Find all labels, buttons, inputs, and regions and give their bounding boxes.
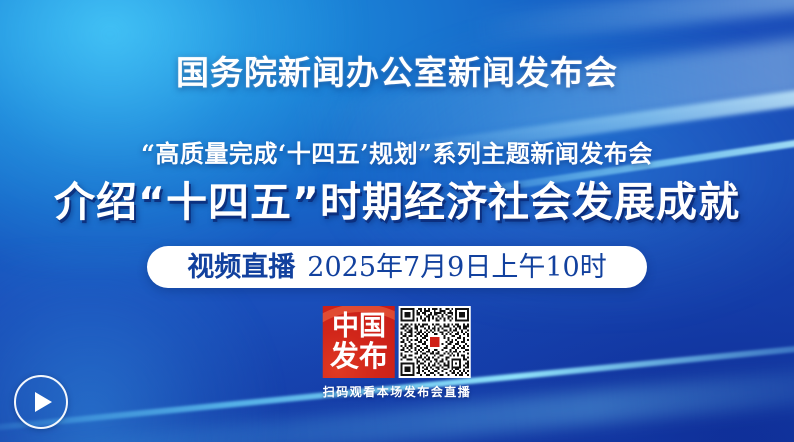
logo-line-1: 中国	[332, 314, 386, 340]
live-broadcast-datetime: 2025年7月9日上午10时	[307, 254, 606, 281]
qr-row: 中国 发布	[323, 306, 471, 378]
qr-caption: 扫码观看本场发布会直播	[323, 383, 472, 400]
qr-section: 中国 发布	[323, 306, 472, 400]
live-broadcast-label: 视频直播	[187, 254, 295, 281]
poster-content: 国务院新闻办公室新闻发布会 “高质量完成‘十四五’规划”系列主题新闻发布会 介绍…	[0, 0, 794, 442]
play-button[interactable]	[14, 375, 68, 429]
play-icon	[35, 392, 52, 412]
topic-headline: 介绍“十四五”时期经济社会发展成就	[0, 182, 794, 223]
qr-code[interactable]	[399, 306, 471, 378]
china-release-logo: 中国 发布	[323, 306, 395, 378]
live-broadcast-badge: 视频直播 2025年7月9日上午10时	[147, 246, 647, 288]
live-broadcast-badge-content: 视频直播 2025年7月9日上午10时	[187, 254, 606, 281]
series-subtitle: “高质量完成‘十四五’规划”系列主题新闻发布会	[0, 142, 794, 166]
logo-line-2: 发布	[330, 342, 388, 370]
broadcast-poster: 国务院新闻办公室新闻发布会 “高质量完成‘十四五’规划”系列主题新闻发布会 介绍…	[0, 0, 794, 442]
page-title: 国务院新闻办公室新闻发布会	[0, 56, 794, 89]
qr-code-image	[399, 306, 471, 378]
